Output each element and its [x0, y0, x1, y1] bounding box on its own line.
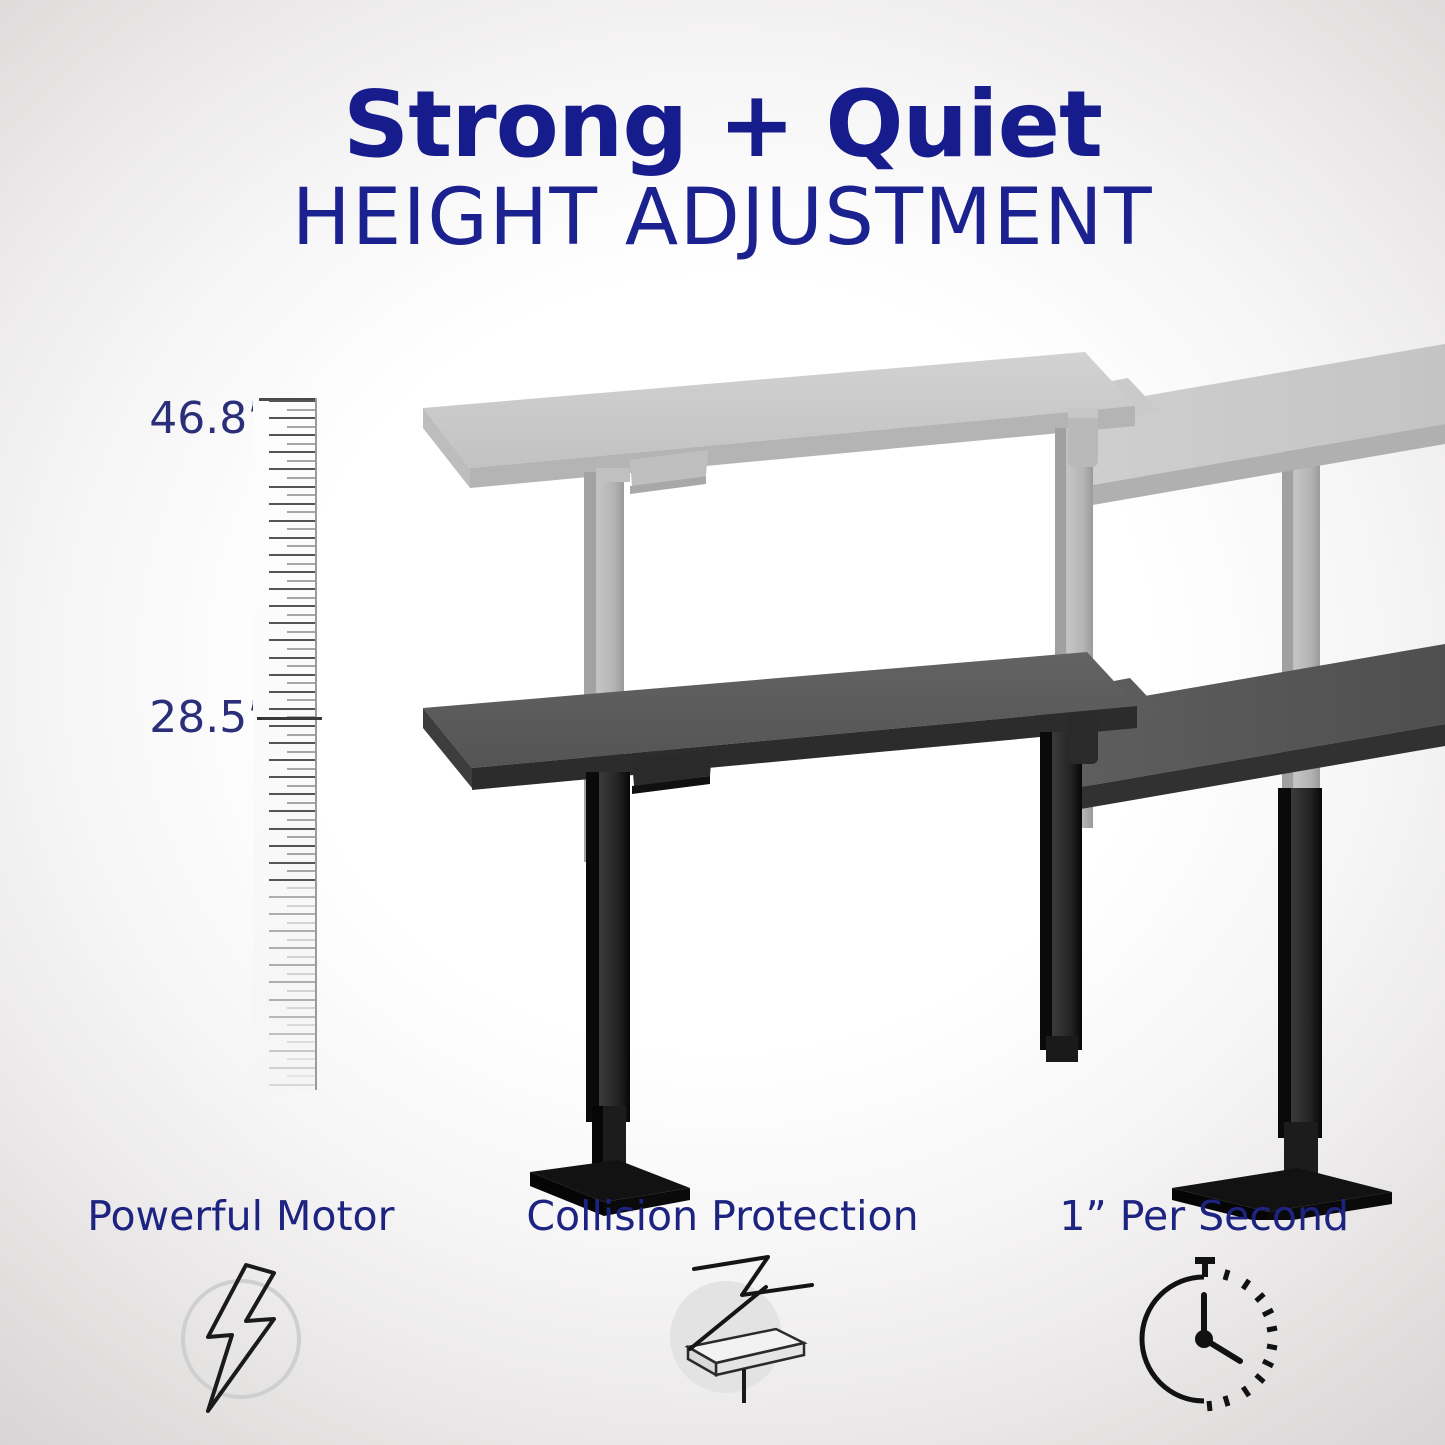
page-title: Strong + Quiet — [0, 78, 1445, 172]
feature-powerful-motor: Powerful Motor — [0, 1196, 482, 1445]
lowered-desk-leg-right — [1172, 788, 1392, 1220]
page-subtitle: HEIGHT ADJUSTMENT — [0, 178, 1445, 260]
feature-label-collision-protection: Collision Protection — [482, 1196, 964, 1237]
feature-label-speed: 1” Per Second — [963, 1196, 1445, 1237]
feature-label-powerful-motor: Powerful Motor — [0, 1196, 482, 1237]
infographic-page: Strong + Quiet HEIGHT ADJUSTMENT 46.8” 2… — [0, 0, 1445, 1445]
standing-desk-illustration — [0, 300, 1445, 1220]
desk-svg — [0, 300, 1445, 1220]
raised-desk-group — [423, 344, 1445, 862]
feature-collision-protection: Collision Protection — [482, 1196, 964, 1445]
feature-row: Powerful Motor Collision Protection — [0, 1196, 1445, 1445]
lowered-desk-group — [423, 644, 1445, 1220]
stopwatch-icon — [1109, 1251, 1299, 1426]
desktop-rebound-icon — [628, 1251, 818, 1426]
title-block: Strong + Quiet HEIGHT ADJUSTMENT — [0, 78, 1445, 260]
feature-speed: 1” Per Second — [963, 1196, 1445, 1445]
lowered-desk-leg-left — [530, 772, 690, 1216]
lightning-bolt-icon — [146, 1251, 336, 1426]
